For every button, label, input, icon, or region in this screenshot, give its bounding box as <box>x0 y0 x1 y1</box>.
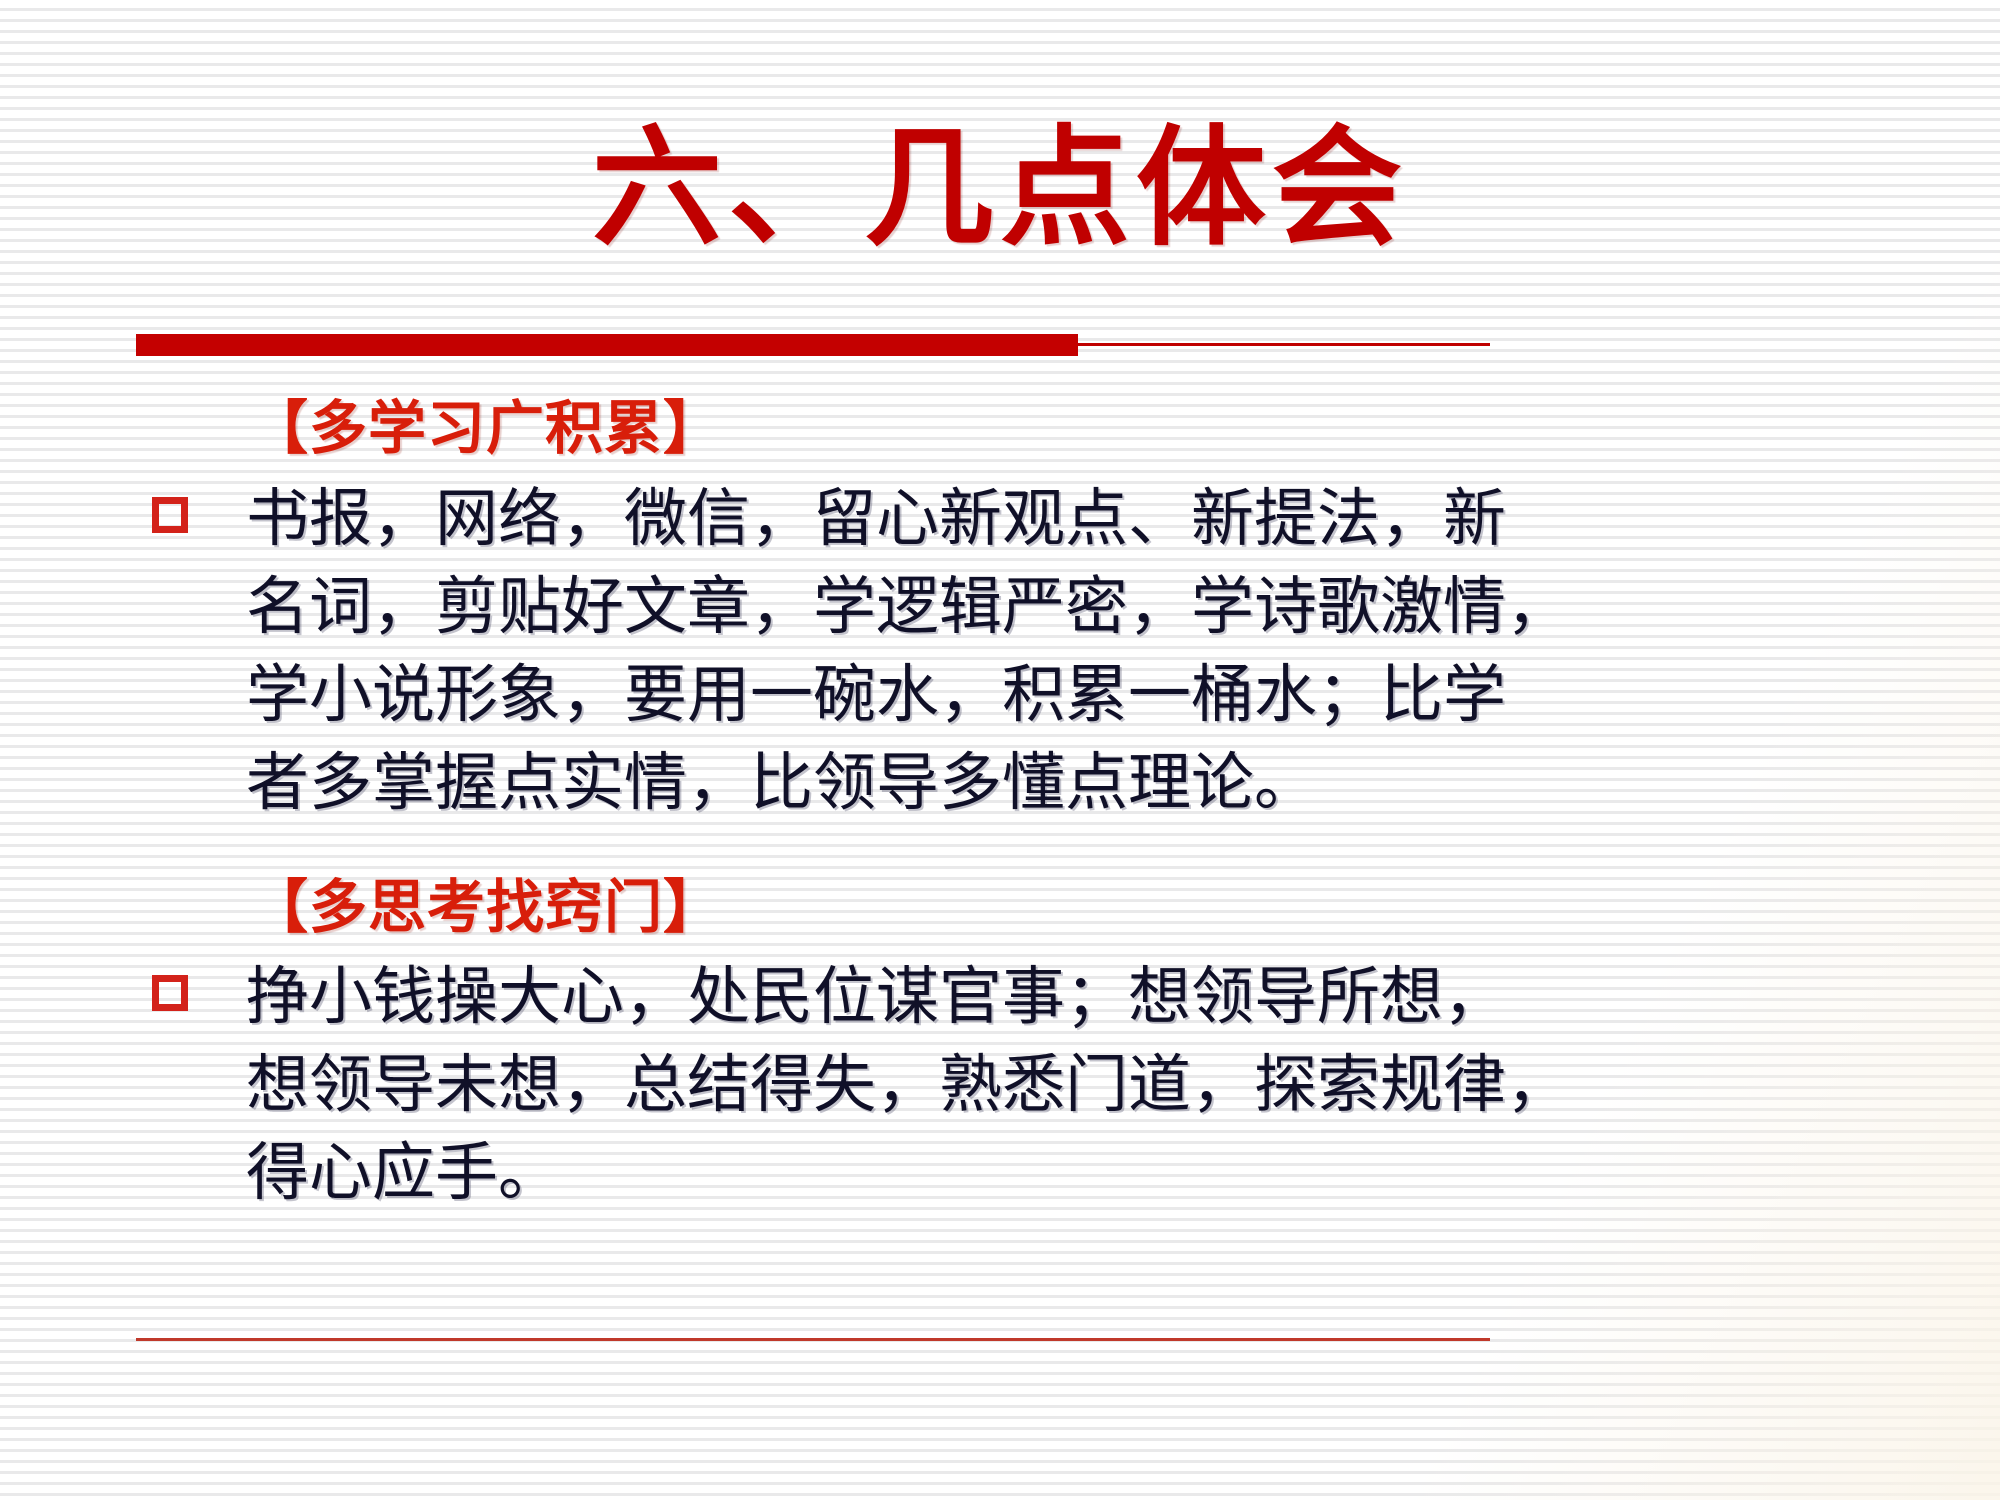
text-line: 学小说形象，要用一碗水，积累一桶水；比学 <box>246 651 1830 739</box>
bullet-text-1: 书报，网络，微信，留心新观点、新提法，新 名词，剪贴好文章，学逻辑严密，学诗歌激… <box>246 475 1830 827</box>
title-rule-thick-bar <box>136 334 1078 356</box>
body-content: 【多学习广积累】 书报，网络，微信，留心新观点、新提法，新 名词，剪贴好文章，学… <box>0 392 2000 1217</box>
text-line: 挣小钱操大心，处民位谋官事；想领导所想， <box>246 953 1830 1041</box>
list-item: 挣小钱操大心，处民位谋官事；想领导所想， 想领导未想，总结得失，熟悉门道，探索规… <box>0 953 2000 1217</box>
section-heading-2: 【多思考找窍门】 <box>250 871 2000 944</box>
slide-content: 六、几点体会 【多学习广积累】 书报，网络，微信，留心新观点、新提法，新 名词，… <box>0 0 2000 1500</box>
hollow-square-bullet-icon <box>152 975 188 1011</box>
section-heading-1: 【多学习广积累】 <box>250 392 2000 465</box>
text-line: 名词，剪贴好文章，学逻辑严密，学诗歌激情， <box>246 563 1830 651</box>
bullet-text-2: 挣小钱操大心，处民位谋官事；想领导所想， 想领导未想，总结得失，熟悉门道，探索规… <box>246 953 1830 1217</box>
page-title: 六、几点体会 <box>0 120 2000 257</box>
hollow-square-bullet-icon <box>152 497 188 533</box>
title-underline-rule <box>136 334 1490 356</box>
section-gap <box>0 827 2000 871</box>
section-duoxuexi: 【多学习广积累】 书报，网络，微信，留心新观点、新提法，新 名词，剪贴好文章，学… <box>0 392 2000 827</box>
text-line: 想领导未想，总结得失，熟悉门道，探索规律， <box>246 1041 1830 1129</box>
text-line: 书报，网络，微信，留心新观点、新提法，新 <box>246 475 1830 563</box>
list-item: 书报，网络，微信，留心新观点、新提法，新 名词，剪贴好文章，学逻辑严密，学诗歌激… <box>0 475 2000 827</box>
text-line: 得心应手。 <box>246 1129 1830 1217</box>
footer-rule <box>136 1338 1490 1341</box>
text-line: 者多掌握点实情，比领导多懂点理论。 <box>246 739 1830 827</box>
section-duosikao: 【多思考找窍门】 挣小钱操大心，处民位谋官事；想领导所想， 想领导未想，总结得失… <box>0 871 2000 1218</box>
